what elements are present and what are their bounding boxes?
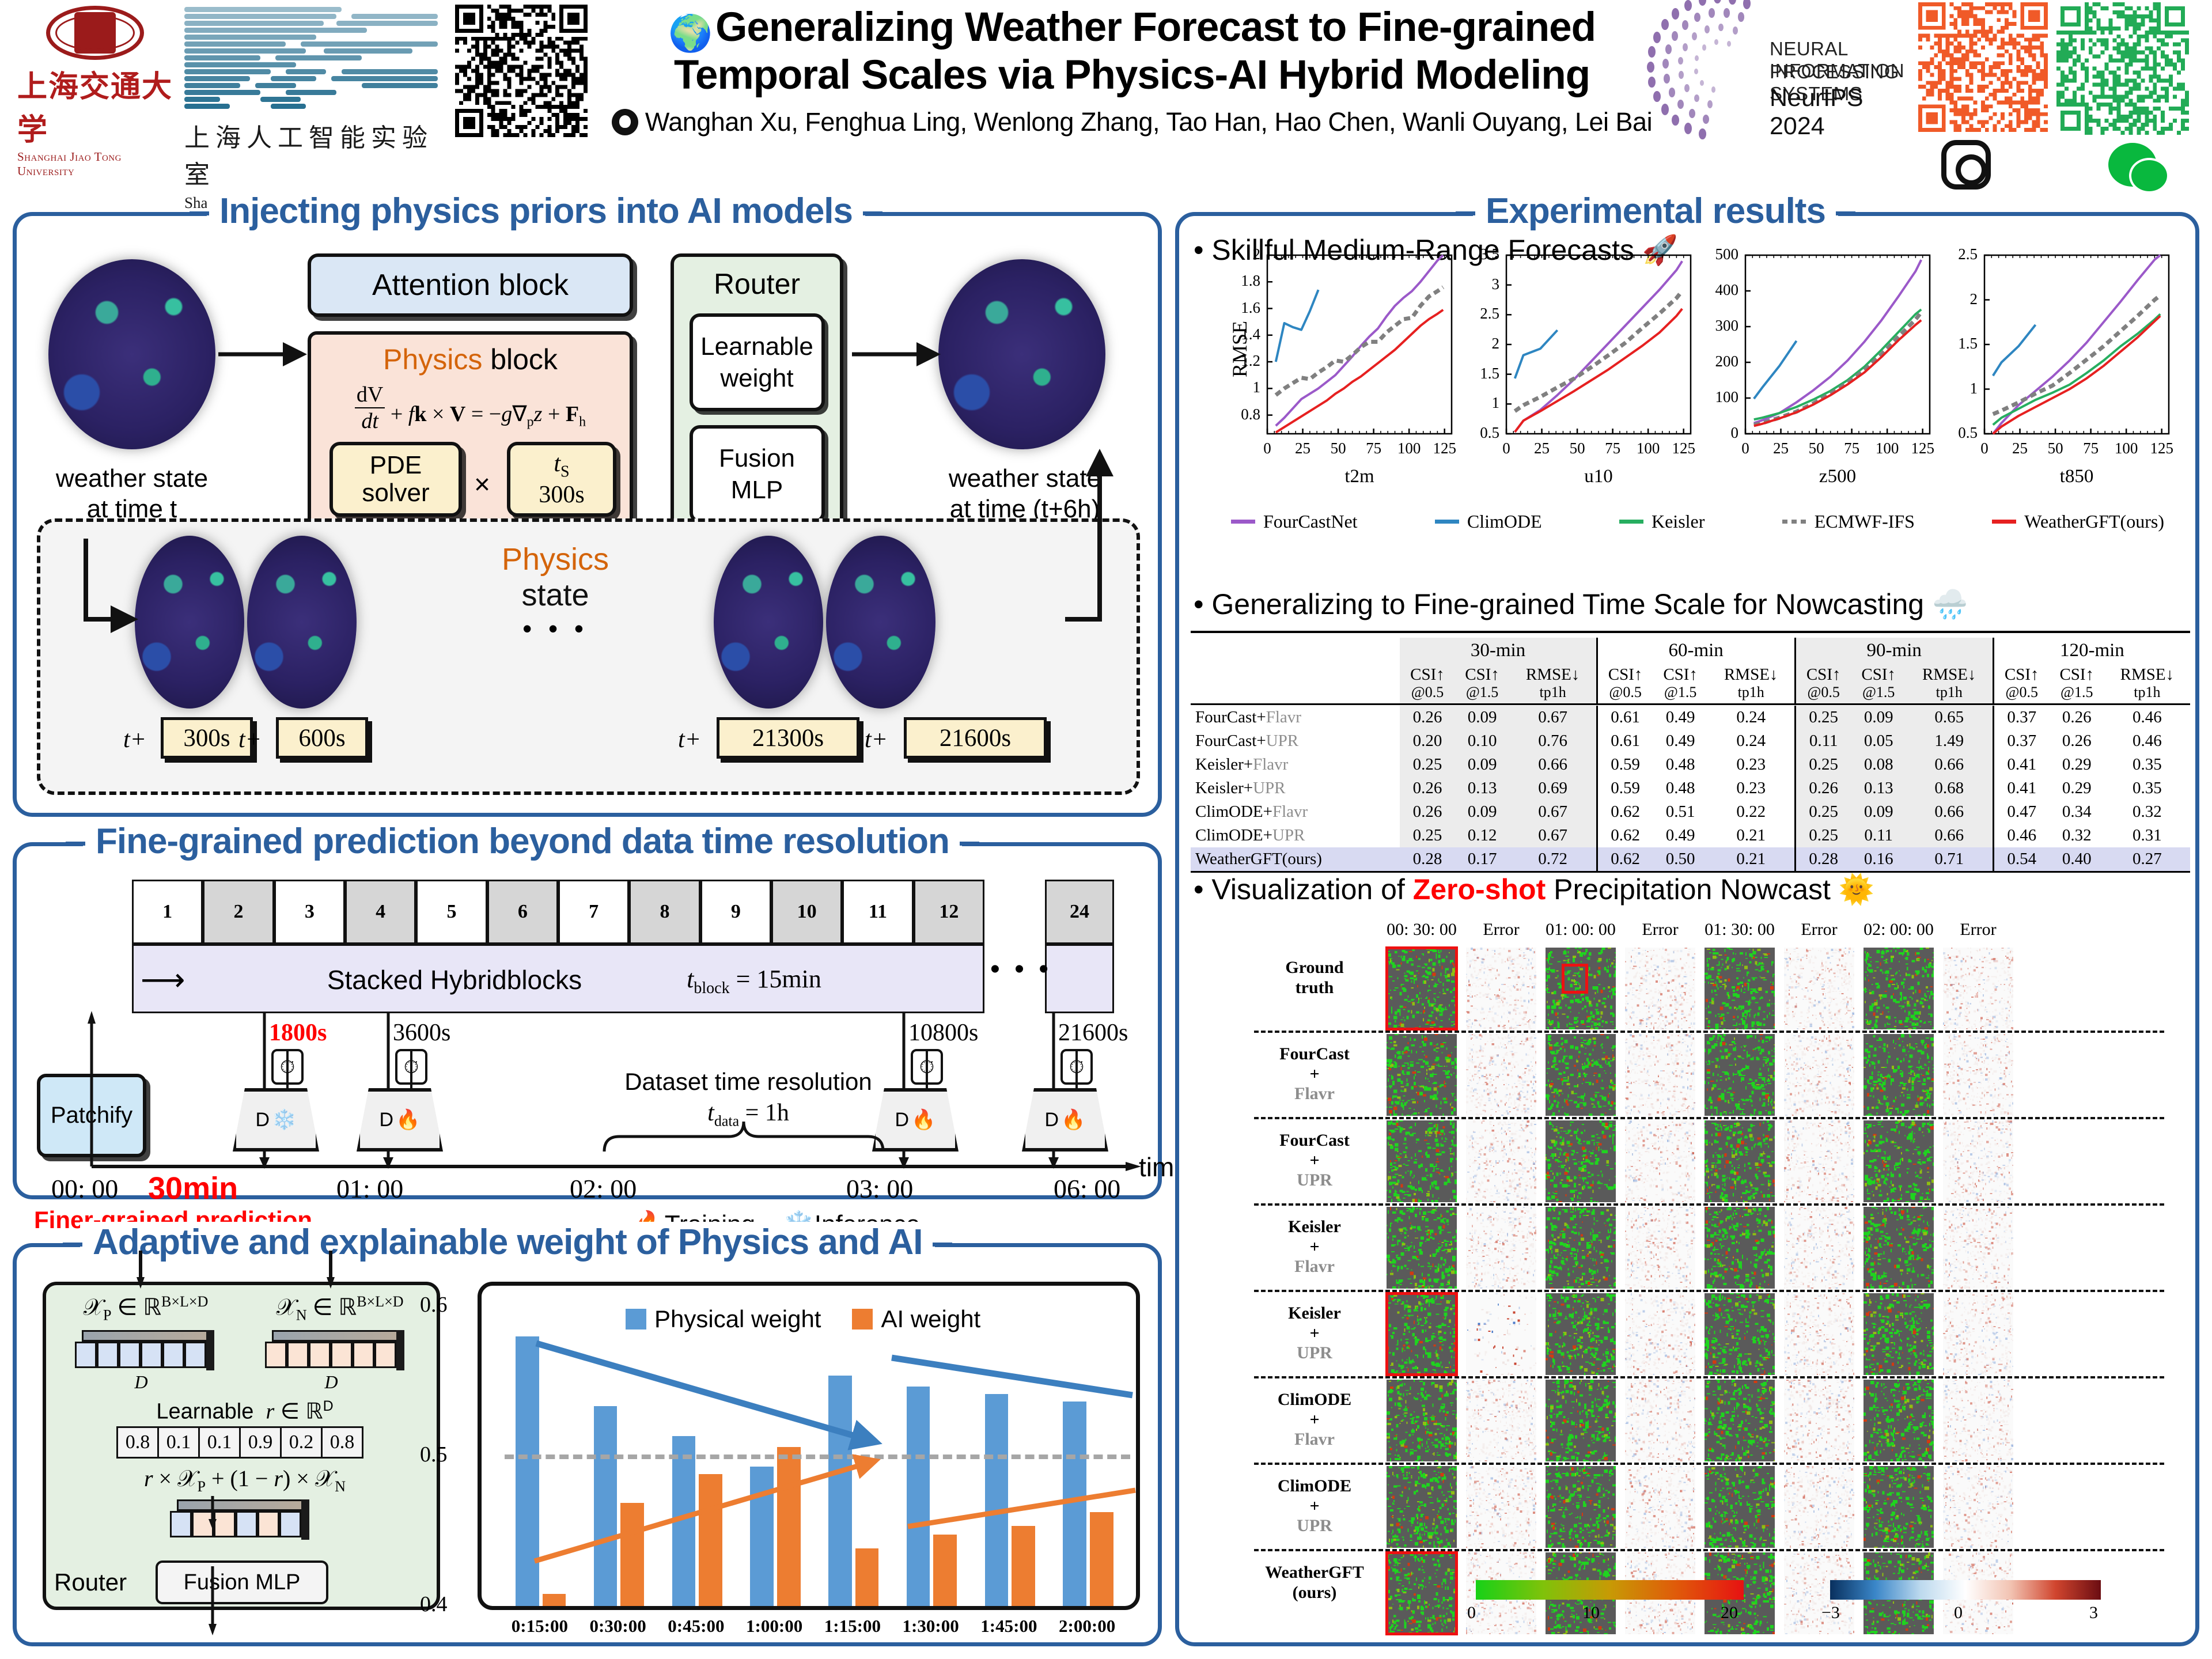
cell-3-6: 0.26	[1795, 777, 1851, 800]
ellipsis-icon: • • •	[420, 613, 691, 644]
viz-precip-cell-3-2	[1546, 1207, 1616, 1289]
viz-error-cell-4-1	[1466, 1293, 1536, 1375]
fusion-mlp-box: FusionMLP	[690, 425, 825, 523]
snowflake-icon: ❄️	[272, 1108, 296, 1131]
cell-1-6: 0.11	[1795, 729, 1851, 753]
viz-highlight-box-2	[1385, 1551, 1458, 1635]
ytick-t2m-1.8: 1.8	[1222, 272, 1260, 290]
ytick-t2m-0.8: 0.8	[1222, 406, 1260, 423]
xtick-z500-125: 125	[1909, 440, 1937, 457]
results-table-wrap: 30-min60-min90-min120-minCSI↑@0.5CSI↑@1.…	[1191, 631, 2190, 874]
cell-3-11: 0.35	[2104, 777, 2190, 800]
ylabel-rmse: RMSE	[1228, 291, 1252, 407]
cell-2-11: 0.35	[2104, 753, 2190, 777]
bar-physical-weight-3	[750, 1467, 774, 1606]
legend-swatch-physical	[626, 1309, 646, 1330]
legend-text-ClimODE: ClimODE	[1467, 511, 1542, 532]
bar-ytick-0.4: 0.4	[420, 1592, 448, 1617]
viz-error-cell-1-5	[1784, 1034, 1854, 1116]
sjtu-seal-icon	[46, 6, 144, 60]
cell-5-11: 0.31	[2104, 824, 2190, 847]
cell-2-0: 0.25	[1400, 753, 1455, 777]
line-chart-legend: FourCastNetClimODEKeislerECMWF-IFSWeathe…	[1231, 511, 2164, 532]
marker-seconds-2: 3600s	[393, 1019, 450, 1047]
viz-error-cell-6-7	[1943, 1466, 2013, 1548]
step-prefix-4: t+	[865, 726, 888, 753]
viz-row-label-6: ClimODE+UPR	[1254, 1476, 1375, 1536]
hybridblock-1: 1	[132, 880, 203, 944]
viz-precip-cell-6-0	[1387, 1466, 1457, 1548]
sail-logo: 上海人工智能实验室 Shanghai Artificial Intelligen…	[184, 7, 449, 185]
cell-6-1: 0.17	[1455, 847, 1510, 872]
legend-item-2: Keisler	[1619, 511, 1705, 532]
cell-0-11: 0.46	[2104, 706, 2190, 729]
viz-error-cell-5-7	[1943, 1380, 2013, 1461]
output-caption: weather stateat time (t+6h)	[921, 464, 1128, 525]
group-header-60-min: 60-min	[1597, 638, 1795, 664]
physics-word: Physics	[383, 343, 482, 376]
legend-text-WeatherGFT(ours): WeatherGFT(ours)	[2024, 511, 2164, 532]
xtick-t850-25: 25	[2006, 440, 2034, 457]
cell-3-9: 0.41	[1993, 777, 2050, 800]
cell-4-5: 0.22	[1708, 800, 1795, 824]
instagram-qr-code[interactable]	[1918, 2, 2048, 132]
stacked-hybridblocks-label: Stacked Hybridblocks	[316, 964, 593, 995]
cell-6-3: 0.62	[1597, 847, 1653, 872]
viz-col-header-1: Error	[1456, 920, 1547, 940]
precip-cb-tick-0: 0	[1467, 1603, 1476, 1623]
viz-precip-cell-4-4	[1705, 1293, 1775, 1375]
step-prefix-3: t+	[678, 726, 701, 753]
table-row: FourCast+UPR0.200.100.760.610.490.240.11…	[1191, 729, 2190, 753]
panel2-title: Fine-grained prediction beyond data time…	[83, 821, 962, 862]
cell-3-4: 0.48	[1653, 777, 1708, 800]
step-prefix-2: t+	[238, 726, 262, 753]
cell-6-0: 0.28	[1400, 847, 1455, 872]
cell-0-7: 0.09	[1851, 706, 1906, 729]
cell-5-10: 0.32	[2050, 824, 2104, 847]
metric-header-60-min-2: RMSE↓tp1h	[1708, 664, 1795, 704]
viz-row-label-2: FourCast+UPR	[1254, 1131, 1375, 1191]
fusion-mlp-box-2: Fusion MLP	[156, 1560, 328, 1604]
stopwatch-icon-1: ⏱	[271, 1049, 304, 1085]
sjtu-logo: 上海交通大学 Shanghai Jiao Tong University	[17, 6, 173, 179]
hybridblock-24: 24	[1045, 880, 1114, 944]
viz-highlight-box-0	[1385, 946, 1458, 1031]
xtick-t2m-100: 100	[1395, 440, 1423, 457]
cell-1-5: 0.24	[1708, 729, 1795, 753]
bar-xtick-4: 1:15:00	[813, 1616, 892, 1637]
cell-5-4: 0.49	[1653, 824, 1708, 847]
hybridblock-12: 12	[914, 880, 984, 944]
viz-row-divider-1	[1254, 1031, 2164, 1033]
hybridblock-11: 11	[842, 880, 913, 944]
viz-row-divider-6	[1254, 1463, 2164, 1465]
legend-label-ai: AI weight	[881, 1305, 980, 1332]
physics-state-label: Physics state • • •	[420, 541, 691, 644]
cell-5-3: 0.62	[1597, 824, 1653, 847]
cell-2-5: 0.23	[1708, 753, 1795, 777]
r-value-5: 0.2	[280, 1426, 323, 1459]
viz-precip-cell-3-0	[1387, 1207, 1457, 1289]
legend-text-ECMWF-IFS: ECMWF-IFS	[1815, 511, 1915, 532]
cell-0-8: 0.65	[1906, 706, 1993, 729]
row-label-4: ClimODE+Flavr	[1191, 800, 1400, 824]
error-cb-tick-3: 3	[2089, 1603, 2098, 1623]
sjtu-name-cn: 上海交通大学	[17, 62, 173, 149]
legend-line-WeatherGFT(ours)	[1992, 520, 2016, 524]
viz-precip-cell-5-4	[1705, 1380, 1775, 1461]
viz-row-l2: +	[1309, 1065, 1319, 1084]
xtick-t850-125: 125	[2148, 440, 2176, 457]
viz-col-header-0: 00: 30: 00	[1376, 920, 1467, 940]
sun-icon: 🌞	[1839, 873, 1874, 906]
cell-1-11: 0.46	[2104, 729, 2190, 753]
viz-precip-cell-1-0	[1387, 1034, 1457, 1116]
viz-precip-cell-6-2	[1546, 1466, 1616, 1548]
physics-equation: dV dt + fk × V = −g∇pz + Fh	[355, 382, 586, 434]
cell-2-7: 0.08	[1851, 753, 1906, 777]
cell-1-3: 0.61	[1597, 729, 1653, 753]
axis-tick-1: 01: 00	[336, 1173, 403, 1204]
viz-precip-cell-4-6	[1863, 1293, 1934, 1375]
row-label-2: Keisler+Flavr	[1191, 753, 1400, 777]
results-title: Experimental results	[1473, 191, 1838, 232]
viz-error-cell-6-3	[1625, 1466, 1695, 1548]
xtick-t2m-75: 75	[1360, 440, 1388, 457]
viz-precip-cell-3-4	[1705, 1207, 1775, 1289]
sail-name-cn: 上海人工智能实验室	[184, 117, 449, 191]
viz-row-l3: UPR	[1297, 1343, 1332, 1362]
cell-4-8: 0.66	[1906, 800, 1993, 824]
viz-precip-cell-0-6	[1863, 948, 1934, 1029]
ytick-u10-1: 1	[1461, 394, 1499, 412]
group-header-120-min: 120-min	[1993, 638, 2190, 664]
cell-2-1: 0.09	[1455, 753, 1510, 777]
physics-globe-2	[247, 536, 357, 709]
metric-header-90-min-1: CSI↑@1.5	[1851, 664, 1906, 704]
group-header-90-min: 90-min	[1795, 638, 1993, 664]
axis-tick-2: 02: 00	[570, 1173, 637, 1204]
r-value-4: 0.9	[239, 1426, 282, 1459]
panel-adaptive-weight: Adaptive and explainable weight of Physi…	[13, 1243, 1162, 1646]
viz-error-cell-2-1	[1466, 1120, 1536, 1202]
paper-qr-code[interactable]	[455, 5, 588, 137]
xtick-t2m-25: 25	[1289, 440, 1317, 457]
tblock-label: tblock = 15min	[627, 964, 881, 998]
viz-row-l1: FourCast	[1279, 1131, 1350, 1150]
bar-ytick-0.6: 0.6	[420, 1292, 448, 1317]
xtick-u10-25: 25	[1528, 440, 1556, 457]
panel-injecting-physics: Injecting physics priors into AI models …	[13, 212, 1162, 817]
cell-0-9: 0.37	[1993, 706, 2050, 729]
xp-label: 𝒳P ∈ ℝB×L×D	[56, 1293, 235, 1324]
viz-error-cell-4-3	[1625, 1293, 1695, 1375]
poster-root: 上海交通大学 Shanghai Jiao Tong University 上海人…	[0, 0, 2212, 1659]
cell-5-9: 0.46	[1993, 824, 2050, 847]
viz-error-cell-6-1	[1466, 1466, 1536, 1548]
xtick-z500-0: 0	[1732, 440, 1759, 457]
sail-bars-icon	[184, 7, 438, 113]
hybridblock-4: 4	[345, 880, 416, 944]
cell-5-0: 0.25	[1400, 824, 1455, 847]
legend-line-FourCastNet	[1231, 520, 1255, 524]
cell-4-11: 0.32	[2104, 800, 2190, 824]
viz-error-cell-3-3	[1625, 1207, 1695, 1289]
xtick-t2m-50: 50	[1324, 440, 1352, 457]
bar-ai-weight-6	[1012, 1526, 1035, 1606]
learnable-r-label: Learnable r ∈ ℝD	[46, 1398, 444, 1425]
viz-precip-cell-1-4	[1705, 1034, 1775, 1116]
xtick-u10-50: 50	[1563, 440, 1591, 457]
error-cb-tick-0: 0	[1954, 1603, 1963, 1623]
hybridblock-3: 3	[274, 880, 345, 944]
rain-cloud-icon: 🌧️	[1932, 588, 1968, 620]
multiply-icon: ×	[474, 469, 490, 501]
xlabel-t850: t850	[1984, 466, 2169, 487]
viz-row-l1: ClimODE	[1278, 1476, 1351, 1495]
cell-3-1: 0.13	[1455, 777, 1510, 800]
ytick-z500-200: 200	[1700, 353, 1738, 370]
viz-col-header-5: Error	[1774, 920, 1865, 940]
ytick-u10-1.5: 1.5	[1461, 365, 1499, 382]
viz-error-cell-4-7	[1943, 1293, 2013, 1375]
cell-0-5: 0.24	[1708, 706, 1795, 729]
table-row: Keisler+Flavr0.250.090.660.590.480.230.2…	[1191, 753, 2190, 777]
router-label-2: Router	[54, 1569, 127, 1596]
viz-precip-cell-1-6	[1863, 1034, 1934, 1116]
cell-1-4: 0.49	[1653, 729, 1708, 753]
cell-6-6: 0.28	[1795, 847, 1851, 872]
viz-error-cell-0-5	[1784, 948, 1854, 1029]
panel3-title: Adaptive and explainable weight of Physi…	[80, 1222, 935, 1263]
line-chart-t850: 0.511.522.50255075100125t850	[1940, 251, 2170, 521]
ytick-u10-3.5: 3.5	[1461, 245, 1499, 263]
fire-icon: 🔥	[396, 1108, 420, 1131]
viz-col-header-6: 02: 00: 00	[1853, 920, 1944, 940]
cell-4-7: 0.09	[1851, 800, 1906, 824]
xtick-t850-75: 75	[2077, 440, 2105, 457]
hybridblock-6: 6	[487, 880, 558, 944]
axis-tick-4: 06: 00	[1054, 1173, 1120, 1204]
decoder-block-1: D❄️	[233, 1088, 319, 1152]
bar-chart-legend: Physical weightAI weight	[626, 1305, 980, 1333]
viz-col-header-2: 01: 00: 00	[1535, 920, 1626, 940]
viz-error-cell-1-3	[1625, 1034, 1695, 1116]
cell-2-2: 0.66	[1510, 753, 1597, 777]
cell-6-5: 0.21	[1708, 847, 1795, 872]
viz-row-l3: Flavr	[1294, 1430, 1335, 1449]
viz-error-cell-2-5	[1784, 1120, 1854, 1202]
cell-4-2: 0.67	[1510, 800, 1597, 824]
bar-xtick-2: 0:45:00	[657, 1616, 736, 1637]
viz-error-cell-2-3	[1625, 1120, 1695, 1202]
finer-value: 30min	[148, 1171, 238, 1206]
cell-3-3: 0.59	[1597, 777, 1653, 800]
neurips-line3: NeurIPS 2024	[1770, 84, 1918, 141]
table-row: ClimODE+Flavr0.260.090.670.620.510.220.2…	[1191, 800, 2190, 824]
viz-row-divider-2	[1254, 1117, 2164, 1119]
decoder-letter: D	[380, 1109, 394, 1131]
bar-ytick-0.5: 0.5	[420, 1442, 448, 1467]
xtick-t2m-0: 0	[1253, 440, 1281, 457]
cell-5-5: 0.21	[1708, 824, 1795, 847]
line-chart-t2m: 0.811.21.41.61.820255075100125t2mRMSE	[1222, 251, 1453, 521]
bar-xtick-0: 0:15:00	[501, 1616, 579, 1637]
viz-error-cell-5-5	[1784, 1380, 1854, 1461]
metric-header-60-min-1: CSI↑@1.5	[1653, 664, 1708, 704]
viz-row-l2: +	[1309, 1497, 1319, 1516]
viz-error-cell-3-5	[1784, 1207, 1854, 1289]
line-chart-z500: 01002003004005000255075100125z500	[1700, 251, 1931, 521]
cell-2-3: 0.59	[1597, 753, 1653, 777]
cell-3-0: 0.26	[1400, 777, 1455, 800]
precip-cb-tick-20: 20	[1721, 1603, 1738, 1623]
ytick-t850-2.5: 2.5	[1940, 245, 1978, 263]
viz-col-header-7: Error	[1933, 920, 2024, 940]
legend-line-ClimODE	[1435, 520, 1459, 524]
instagram-icon[interactable]	[1941, 140, 1991, 190]
d-label-2: D	[265, 1372, 397, 1393]
neurips-logo: NEURAL INFORMATION PROCESSING SYSTEMS Ne…	[1665, 10, 1918, 131]
router-block: Router Learnableweight FusionMLP	[671, 253, 843, 544]
wechat-qr-code[interactable]	[2056, 2, 2189, 135]
viz-precip-cell-5-6	[1863, 1380, 1934, 1461]
cell-2-9: 0.41	[1993, 753, 2050, 777]
viz-precip-cell-5-0	[1387, 1380, 1457, 1461]
cell-0-10: 0.26	[2050, 706, 2104, 729]
viz-precip-cell-0-4	[1705, 948, 1775, 1029]
hybridblock-8: 8	[629, 880, 700, 944]
viz-error-cell-5-3	[1625, 1380, 1695, 1461]
xtick-u10-75: 75	[1599, 440, 1627, 457]
cell-4-10: 0.34	[2050, 800, 2104, 824]
bar-ai-weight-3	[777, 1447, 801, 1606]
earth-icon: 🌍	[668, 14, 712, 54]
adaptive-weight-chart: Physical weightAI weight	[478, 1282, 1140, 1610]
bar-ai-weight-5	[933, 1535, 957, 1606]
page-title-line2: Temporal Scales via Physics-AI Hybrid Mo…	[605, 54, 1659, 98]
row-label-0: FourCast+Flavr	[1191, 706, 1400, 729]
table-row: ClimODE+UPR0.250.120.670.620.490.210.250…	[1191, 824, 2190, 847]
viz-row-l1: WeatherGFT	[1265, 1563, 1364, 1582]
viz-row-l2: (ours)	[1293, 1583, 1337, 1602]
xtick-u10-125: 125	[1670, 440, 1698, 457]
ytick-t850-1.5: 1.5	[1940, 335, 1978, 353]
r-value-2: 0.1	[157, 1426, 200, 1459]
xn-tensor-icon	[265, 1330, 404, 1370]
viz-error-cell-4-5	[1784, 1293, 1854, 1375]
line-chart-u10: 0.511.522.533.50255075100125u10	[1461, 251, 1692, 521]
viz-precip-cell-2-6	[1863, 1120, 1934, 1202]
error-cb-tick-neg3: −3	[1821, 1603, 1840, 1623]
viz-precip-cell-1-2	[1546, 1034, 1616, 1116]
input-caption: weather stateat time t	[28, 464, 236, 525]
viz-error-cell-6-5	[1784, 1466, 1854, 1548]
legend-item-4: WeatherGFT(ours)	[1992, 511, 2164, 532]
cell-5-6: 0.25	[1795, 824, 1851, 847]
xtick-u10-100: 100	[1634, 440, 1662, 457]
bar-xtick-1: 0:30:00	[579, 1616, 657, 1637]
xtick-u10-0: 0	[1493, 440, 1520, 457]
viz-row-l2: +	[1309, 1237, 1319, 1256]
cell-4-6: 0.25	[1795, 800, 1851, 824]
viz-row-l2: +	[1309, 1151, 1319, 1170]
viz-row-l2: +	[1309, 1324, 1319, 1343]
cell-6-2: 0.72	[1510, 847, 1597, 872]
legend-item-0: FourCastNet	[1231, 511, 1358, 532]
cell-2-4: 0.48	[1653, 753, 1708, 777]
physics-block: Physics block dV dt + fk × V = −g∇pz + F…	[308, 331, 633, 544]
group-header-30-min: 30-min	[1400, 638, 1597, 664]
table-row: WeatherGFT(ours)0.280.170.720.620.500.21…	[1191, 847, 2190, 872]
step-value-2: 600s	[276, 717, 368, 759]
poster-header: 上海交通大学 Shanghai Jiao Tong University 上海人…	[0, 0, 2212, 196]
cell-3-10: 0.29	[2050, 777, 2104, 800]
bullet-visualization: • Visualization of Zero-shot Precipitati…	[1194, 873, 1874, 907]
viz-row-divider-3	[1254, 1203, 2164, 1206]
viz-error-cell-0-1	[1466, 948, 1536, 1029]
fire-icon: 🔥	[1061, 1108, 1085, 1131]
ytick-u10-2: 2	[1461, 335, 1499, 353]
table-row: FourCast+Flavr0.260.090.670.610.490.240.…	[1191, 706, 2190, 729]
hybridblock-5: 5	[416, 880, 487, 944]
legend-item-3: ECMWF-IFS	[1782, 511, 1915, 532]
legend-item-1: ClimODE	[1435, 511, 1542, 532]
viz-error-cell-1-1	[1466, 1034, 1536, 1116]
ytick-t2m-2: 2	[1222, 245, 1260, 263]
marker-seconds-4: 21600s	[1058, 1019, 1128, 1047]
cell-1-2: 0.76	[1510, 729, 1597, 753]
cell-1-8: 1.49	[1906, 729, 1993, 753]
xtick-t850-100: 100	[2112, 440, 2140, 457]
cell-4-1: 0.09	[1455, 800, 1510, 824]
bar-ai-weight-2	[699, 1474, 722, 1606]
panel1-title: Injecting physics priors into AI models	[207, 191, 865, 232]
bar-physical-weight-1	[594, 1406, 618, 1606]
cell-1-9: 0.37	[1993, 729, 2050, 753]
author-list: Wanghan Xu, Fenghua Ling, Wenlong Zhang,…	[605, 107, 1659, 137]
hybridblock-2: 2	[203, 880, 274, 944]
metric-header-120-min-1: CSI↑@1.5	[2050, 664, 2104, 704]
cell-0-6: 0.25	[1795, 706, 1851, 729]
d-label-1: D	[75, 1372, 207, 1393]
viz-row-l3: Flavr	[1294, 1084, 1335, 1103]
learnable-r-values: 0.80.10.10.90.20.8	[116, 1426, 363, 1459]
fire-icon: 🔥	[911, 1108, 935, 1131]
metric-header-120-min-2: RMSE↓tp1h	[2104, 664, 2190, 704]
cell-6-11: 0.27	[2104, 847, 2190, 872]
wechat-icon[interactable]	[2108, 143, 2157, 187]
github-icon[interactable]	[612, 109, 638, 135]
weather-globe-input	[48, 259, 215, 449]
viz-row-l1: ClimODE	[1278, 1390, 1351, 1409]
axis-tick-0: 00: 00	[51, 1173, 118, 1204]
bar-physical-weight-6	[985, 1394, 1009, 1606]
cell-5-7: 0.11	[1851, 824, 1906, 847]
flow-arrow-icon: ⟶	[141, 961, 185, 998]
cell-2-6: 0.25	[1795, 753, 1851, 777]
ytick-u10-2.5: 2.5	[1461, 305, 1499, 323]
bar-xtick-3: 1:00:00	[735, 1616, 813, 1637]
legend-text-FourCastNet: FourCastNet	[1263, 511, 1358, 532]
page-title-line1: 🌍Generalizing Weather Forecast to Fine-g…	[605, 6, 1659, 54]
viz-row-l3: Flavr	[1294, 1257, 1335, 1276]
hybridblock-9: 9	[700, 880, 771, 944]
decoder-block-4: D🔥	[1022, 1088, 1108, 1152]
xtick-t850-0: 0	[1971, 440, 1998, 457]
bar-ai-weight-7	[1090, 1512, 1113, 1606]
